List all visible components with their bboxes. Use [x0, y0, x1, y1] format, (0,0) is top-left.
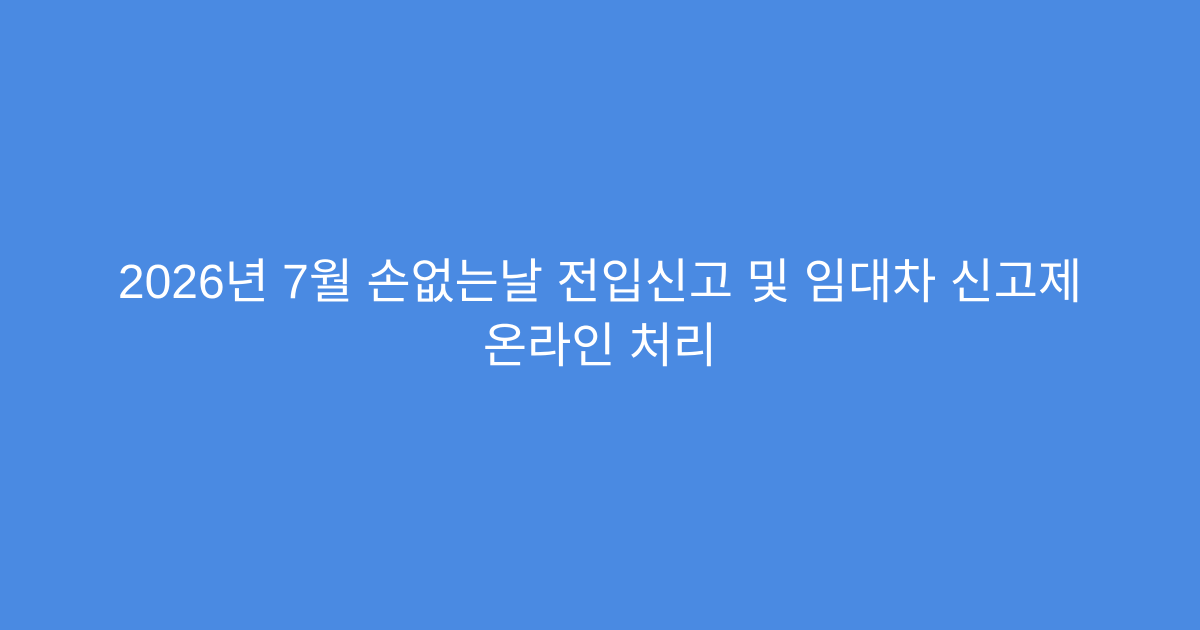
page-title: 2026년 7월 손없는날 전입신고 및 임대차 신고제 온라인 처리 [80, 251, 1120, 379]
og-image-card: 2026년 7월 손없는날 전입신고 및 임대차 신고제 온라인 처리 [0, 0, 1200, 630]
headline-block: 2026년 7월 손없는날 전입신고 및 임대차 신고제 온라인 처리 [80, 251, 1120, 379]
